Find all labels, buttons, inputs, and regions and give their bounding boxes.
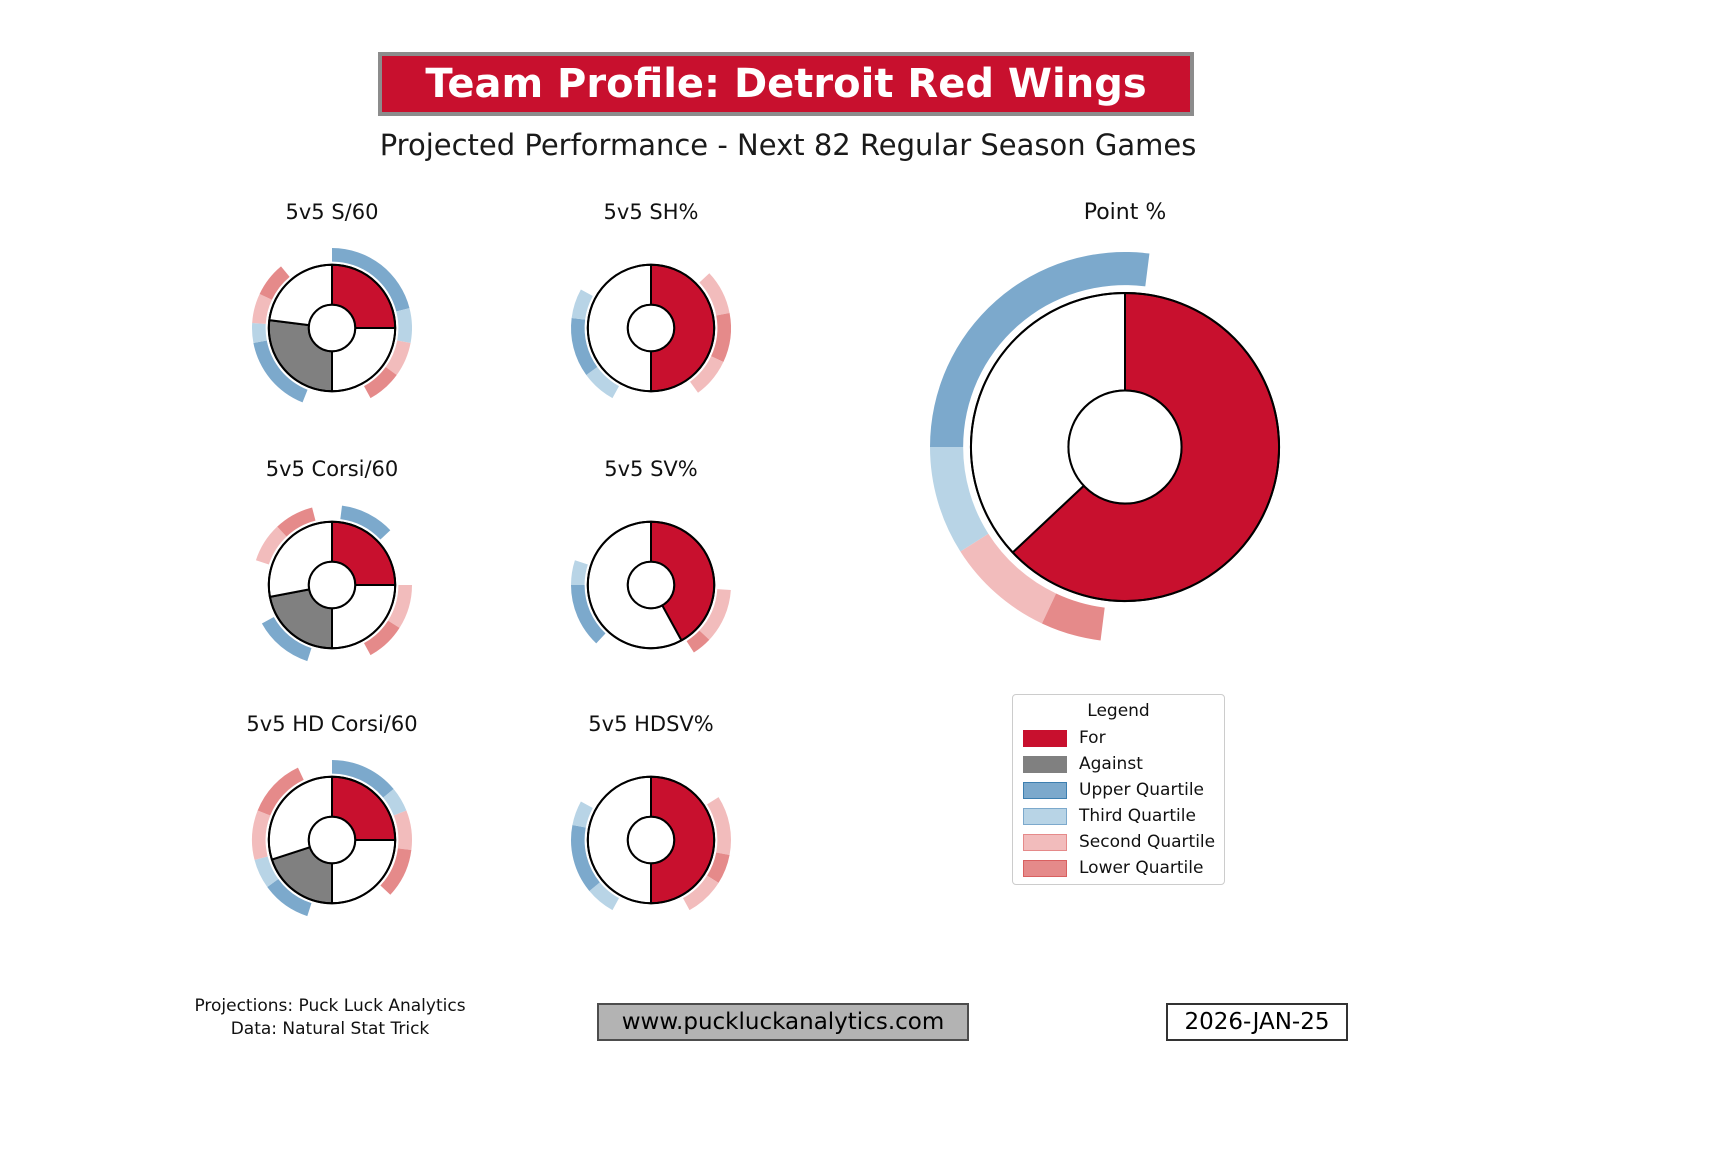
donut-chart-hd-corsi[interactable] xyxy=(232,760,432,920)
donut-chart-sh-pct[interactable] xyxy=(551,248,751,408)
chart-title-hdsv-pct: 5v5 HDSV% xyxy=(551,712,751,736)
page-title: Team Profile: Detroit Red Wings xyxy=(425,61,1146,107)
footer-date-text: 2026-JAN-25 xyxy=(1185,1009,1330,1035)
quartile-ring-segment xyxy=(252,323,267,343)
legend-swatch xyxy=(1023,782,1067,799)
donut-svg xyxy=(232,505,432,665)
donut-chart-sv-pct[interactable] xyxy=(551,505,751,665)
legend-swatch xyxy=(1023,834,1067,851)
legend-rows: ForAgainstUpper QuartileThird QuartileSe… xyxy=(1023,725,1214,881)
legend-swatch xyxy=(1023,730,1067,747)
donut-center-hole xyxy=(309,817,355,863)
donut-svg xyxy=(551,505,751,665)
donut-chart-s60[interactable] xyxy=(232,248,432,408)
legend-label: Lower Quartile xyxy=(1079,858,1203,878)
legend-label: Upper Quartile xyxy=(1079,780,1204,800)
title-banner: Team Profile: Detroit Red Wings xyxy=(378,52,1194,116)
legend-item[interactable]: Second Quartile xyxy=(1023,829,1214,855)
legend-swatch xyxy=(1023,756,1067,773)
donut-svg xyxy=(930,252,1320,642)
legend-item[interactable]: Third Quartile xyxy=(1023,803,1214,829)
legend-label: Second Quartile xyxy=(1079,832,1215,852)
footer-website-text: www.puckluckanalytics.com xyxy=(622,1009,945,1035)
footer-website-box[interactable]: www.puckluckanalytics.com xyxy=(597,1003,969,1041)
chart-title-sv-pct: 5v5 SV% xyxy=(551,457,751,481)
chart-panel-point-pct: Point % xyxy=(930,200,1320,660)
donut-svg xyxy=(551,248,751,408)
legend-label: For xyxy=(1079,728,1106,748)
quartile-ring-segment xyxy=(396,308,412,343)
footer-credits: Projections: Puck Luck Analytics Data: N… xyxy=(120,995,540,1041)
chart-title-s60: 5v5 S/60 xyxy=(232,200,432,224)
legend-item[interactable]: Against xyxy=(1023,751,1214,777)
page-subtitle: Projected Performance - Next 82 Regular … xyxy=(0,128,1576,162)
donut-svg xyxy=(551,760,751,920)
chart-title-sh-pct: 5v5 SH% xyxy=(551,200,751,224)
chart-panel-corsi: 5v5 Corsi/60 xyxy=(232,457,432,657)
chart-panel-hdsv-pct: 5v5 HDSV% xyxy=(551,712,751,912)
footer-date-box: 2026-JAN-25 xyxy=(1166,1003,1348,1041)
legend-swatch xyxy=(1023,860,1067,877)
footer-credits-line2: Data: Natural Stat Trick xyxy=(120,1018,540,1041)
chart-title-hd-corsi: 5v5 HD Corsi/60 xyxy=(232,712,432,736)
legend-item[interactable]: For xyxy=(1023,725,1214,751)
legend-item[interactable]: Lower Quartile xyxy=(1023,855,1214,881)
donut-svg xyxy=(232,760,432,920)
donut-center-hole xyxy=(628,305,674,351)
legend-title: Legend xyxy=(1023,701,1214,721)
donut-center-hole xyxy=(628,817,674,863)
chart-title-point-pct: Point % xyxy=(930,200,1320,225)
legend-swatch xyxy=(1023,808,1067,825)
footer-credits-line1: Projections: Puck Luck Analytics xyxy=(120,995,540,1018)
donut-chart-hdsv-pct[interactable] xyxy=(551,760,751,920)
quartile-ring-segment xyxy=(252,811,270,860)
donut-center-hole xyxy=(309,305,355,351)
chart-panel-hd-corsi: 5v5 HD Corsi/60 xyxy=(232,712,432,912)
legend-label: Against xyxy=(1079,754,1143,774)
chart-panel-sh-pct: 5v5 SH% xyxy=(551,200,751,400)
donut-chart-corsi[interactable] xyxy=(232,505,432,665)
chart-title-corsi: 5v5 Corsi/60 xyxy=(232,457,432,481)
legend-item[interactable]: Upper Quartile xyxy=(1023,777,1214,803)
donut-center-hole xyxy=(628,562,674,608)
donut-svg xyxy=(232,248,432,408)
donut-chart-point-pct[interactable] xyxy=(930,252,1320,642)
quartile-ring-segment xyxy=(394,811,412,850)
legend-label: Third Quartile xyxy=(1079,806,1196,826)
chart-panel-sv-pct: 5v5 SV% xyxy=(551,457,751,657)
donut-center-hole xyxy=(1068,390,1181,503)
legend: Legend ForAgainstUpper QuartileThird Qua… xyxy=(1012,694,1225,885)
quartile-ring-segment xyxy=(571,560,588,585)
chart-panel-s60: 5v5 S/60 xyxy=(232,200,432,400)
donut-center-hole xyxy=(309,562,355,608)
